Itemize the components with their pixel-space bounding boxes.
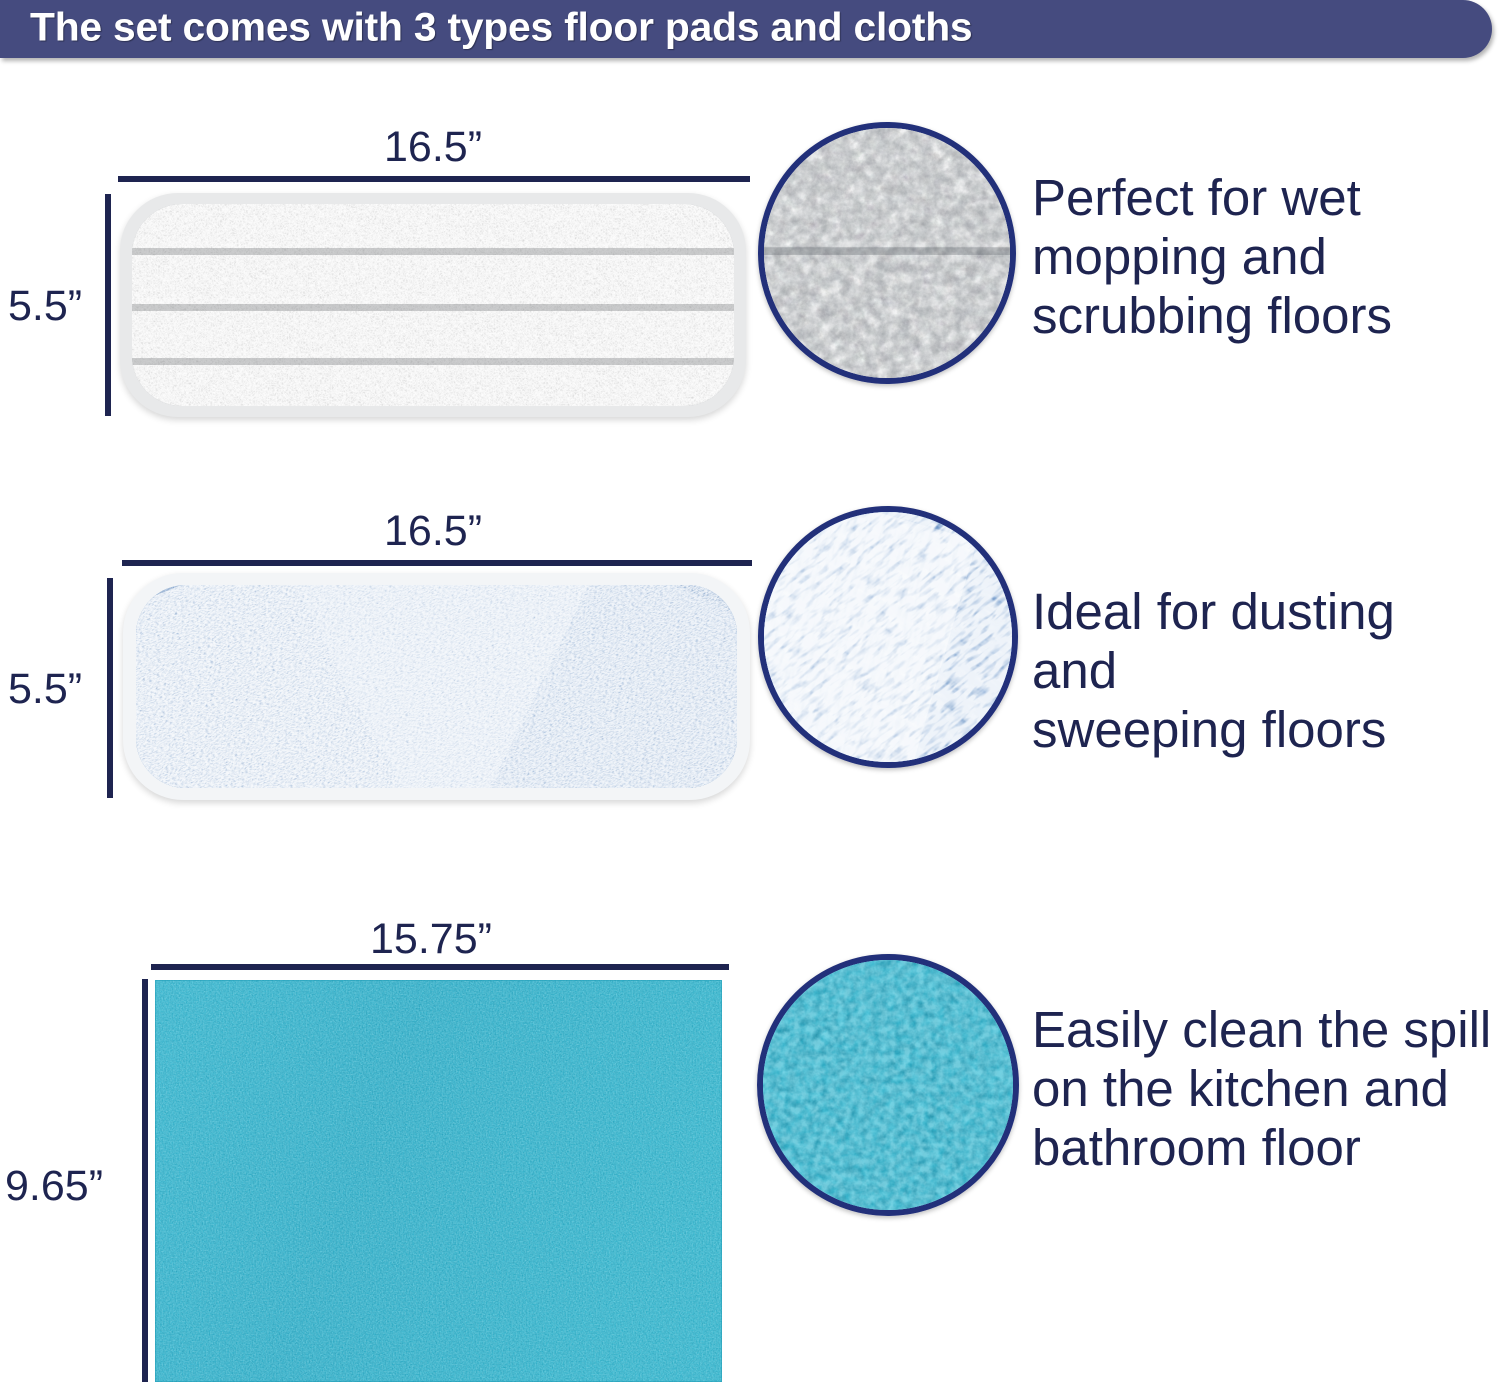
wet-pad-height-label: 5.5” bbox=[8, 282, 82, 331]
dust-pad-height-line bbox=[107, 578, 113, 798]
dust-pad-height-label: 5.5” bbox=[8, 665, 82, 714]
cloth-closeup-circle bbox=[757, 954, 1019, 1216]
dust-pad-width-line bbox=[122, 560, 752, 566]
dust-pad-width-label: 16.5” bbox=[384, 507, 482, 556]
wet-mop-pad-texture bbox=[132, 204, 734, 406]
dust-pad-caption: Ideal for dusting and sweeping floors bbox=[1032, 582, 1494, 759]
cloth-caption: Easily clean the spill on the kitchen an… bbox=[1032, 1000, 1500, 1177]
cloth-width-line bbox=[151, 964, 729, 970]
cleaning-cloth-image bbox=[155, 980, 722, 1382]
cloth-height-label: 9.65” bbox=[5, 1162, 103, 1211]
dust-pad-closeup-circle bbox=[758, 506, 1018, 768]
wet-pad-closeup-circle bbox=[758, 122, 1016, 384]
dust-mop-pad-texture bbox=[136, 585, 737, 788]
wet-pad-width-line bbox=[118, 176, 750, 182]
wet-pad-caption: Perfect for wet mopping and scrubbing fl… bbox=[1032, 168, 1482, 345]
page-title: The set comes with 3 types floor pads an… bbox=[30, 6, 972, 51]
wet-pad-height-line bbox=[105, 194, 111, 416]
wet-pad-width-label: 16.5” bbox=[384, 123, 482, 172]
header-banner: The set comes with 3 types floor pads an… bbox=[0, 0, 1492, 58]
cloth-width-label: 15.75” bbox=[370, 915, 492, 964]
dust-mop-pad-image bbox=[123, 573, 750, 800]
cloth-height-line bbox=[142, 979, 148, 1382]
wet-mop-pad-image bbox=[120, 193, 746, 417]
